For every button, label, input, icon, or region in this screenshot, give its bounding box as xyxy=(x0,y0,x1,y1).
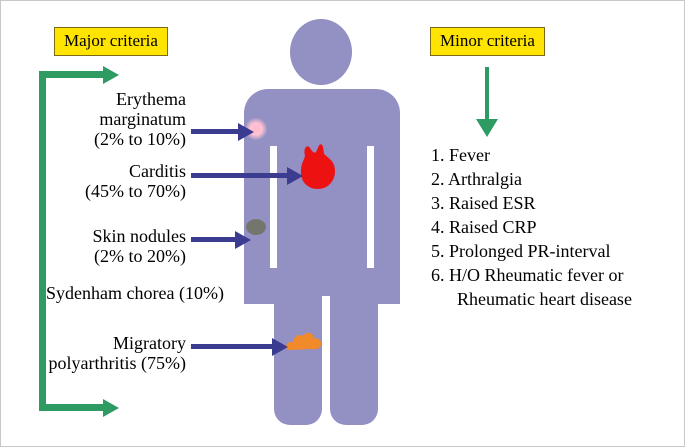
minor-arrow-stem xyxy=(485,67,489,122)
pointer-arrow-polyarthritis-icon xyxy=(191,344,273,349)
minor-criteria-list: 1. Fever 2. Arthralgia 3. Raised ESR 4. … xyxy=(431,144,681,312)
label-sydenham-line1: Sydenham chorea (10%) xyxy=(46,283,246,303)
label-erythema-line3: (2% to 10%) xyxy=(1,129,186,149)
major-criteria-title: Major criteria xyxy=(54,27,168,56)
body-leg-right xyxy=(330,269,378,425)
body-gap-left xyxy=(270,146,277,268)
label-arthritis-line2: polyarthritis (75%) xyxy=(1,353,186,373)
heart-marker xyxy=(297,142,339,192)
body-arm-right xyxy=(374,147,400,265)
major-bracket-top-arrow-icon xyxy=(103,66,119,84)
list-item: 4. Raised CRP xyxy=(431,216,681,240)
body-leg-gap xyxy=(322,296,330,428)
major-bracket-top-line xyxy=(39,71,105,78)
label-erythema-line2: marginatum xyxy=(1,109,186,129)
migratory-polyarthritis-marker xyxy=(285,330,323,351)
label-carditis: Carditis (45% to 70%) xyxy=(1,161,186,201)
diagram-canvas: Major criteria Erythema marginatum (2% t… xyxy=(0,0,685,447)
pointer-arrow-skin-nodules-icon xyxy=(191,237,236,242)
pointer-arrow-carditis-icon xyxy=(191,173,288,178)
label-erythema-marginatum: Erythema marginatum (2% to 10%) xyxy=(1,89,186,149)
label-carditis-line1: Carditis xyxy=(1,161,186,181)
label-skin-nodules: Skin nodules (2% to 20%) xyxy=(1,226,186,266)
label-arthritis-line1: Migratory xyxy=(1,333,186,353)
list-item: 3. Raised ESR xyxy=(431,192,681,216)
major-bracket-bottom-line xyxy=(39,404,105,411)
label-migratory-polyarthritis: Migratory polyarthritis (75%) xyxy=(1,333,186,373)
list-item: 5. Prolonged PR-interval xyxy=(431,240,681,264)
list-item: 1. Fever xyxy=(431,144,681,168)
pointer-arrow-erythema-icon xyxy=(191,129,239,134)
major-bracket-bottom-arrow-icon xyxy=(103,399,119,417)
list-item-continuation: Rheumatic heart disease xyxy=(431,288,681,312)
label-erythema-line1: Erythema xyxy=(1,89,186,109)
body-head xyxy=(290,19,352,85)
label-nodules-line2: (2% to 20%) xyxy=(1,246,186,266)
list-item: 6. H/O Rheumatic fever or xyxy=(431,264,681,288)
label-nodules-line1: Skin nodules xyxy=(1,226,186,246)
minor-criteria-title: Minor criteria xyxy=(430,27,545,56)
minor-arrow-down-icon xyxy=(476,119,498,137)
list-item: 2. Arthralgia xyxy=(431,168,681,192)
label-sydenham-chorea: Sydenham chorea (10%) xyxy=(1,283,246,303)
label-carditis-line2: (45% to 70%) xyxy=(1,181,186,201)
body-gap-right xyxy=(367,146,374,268)
